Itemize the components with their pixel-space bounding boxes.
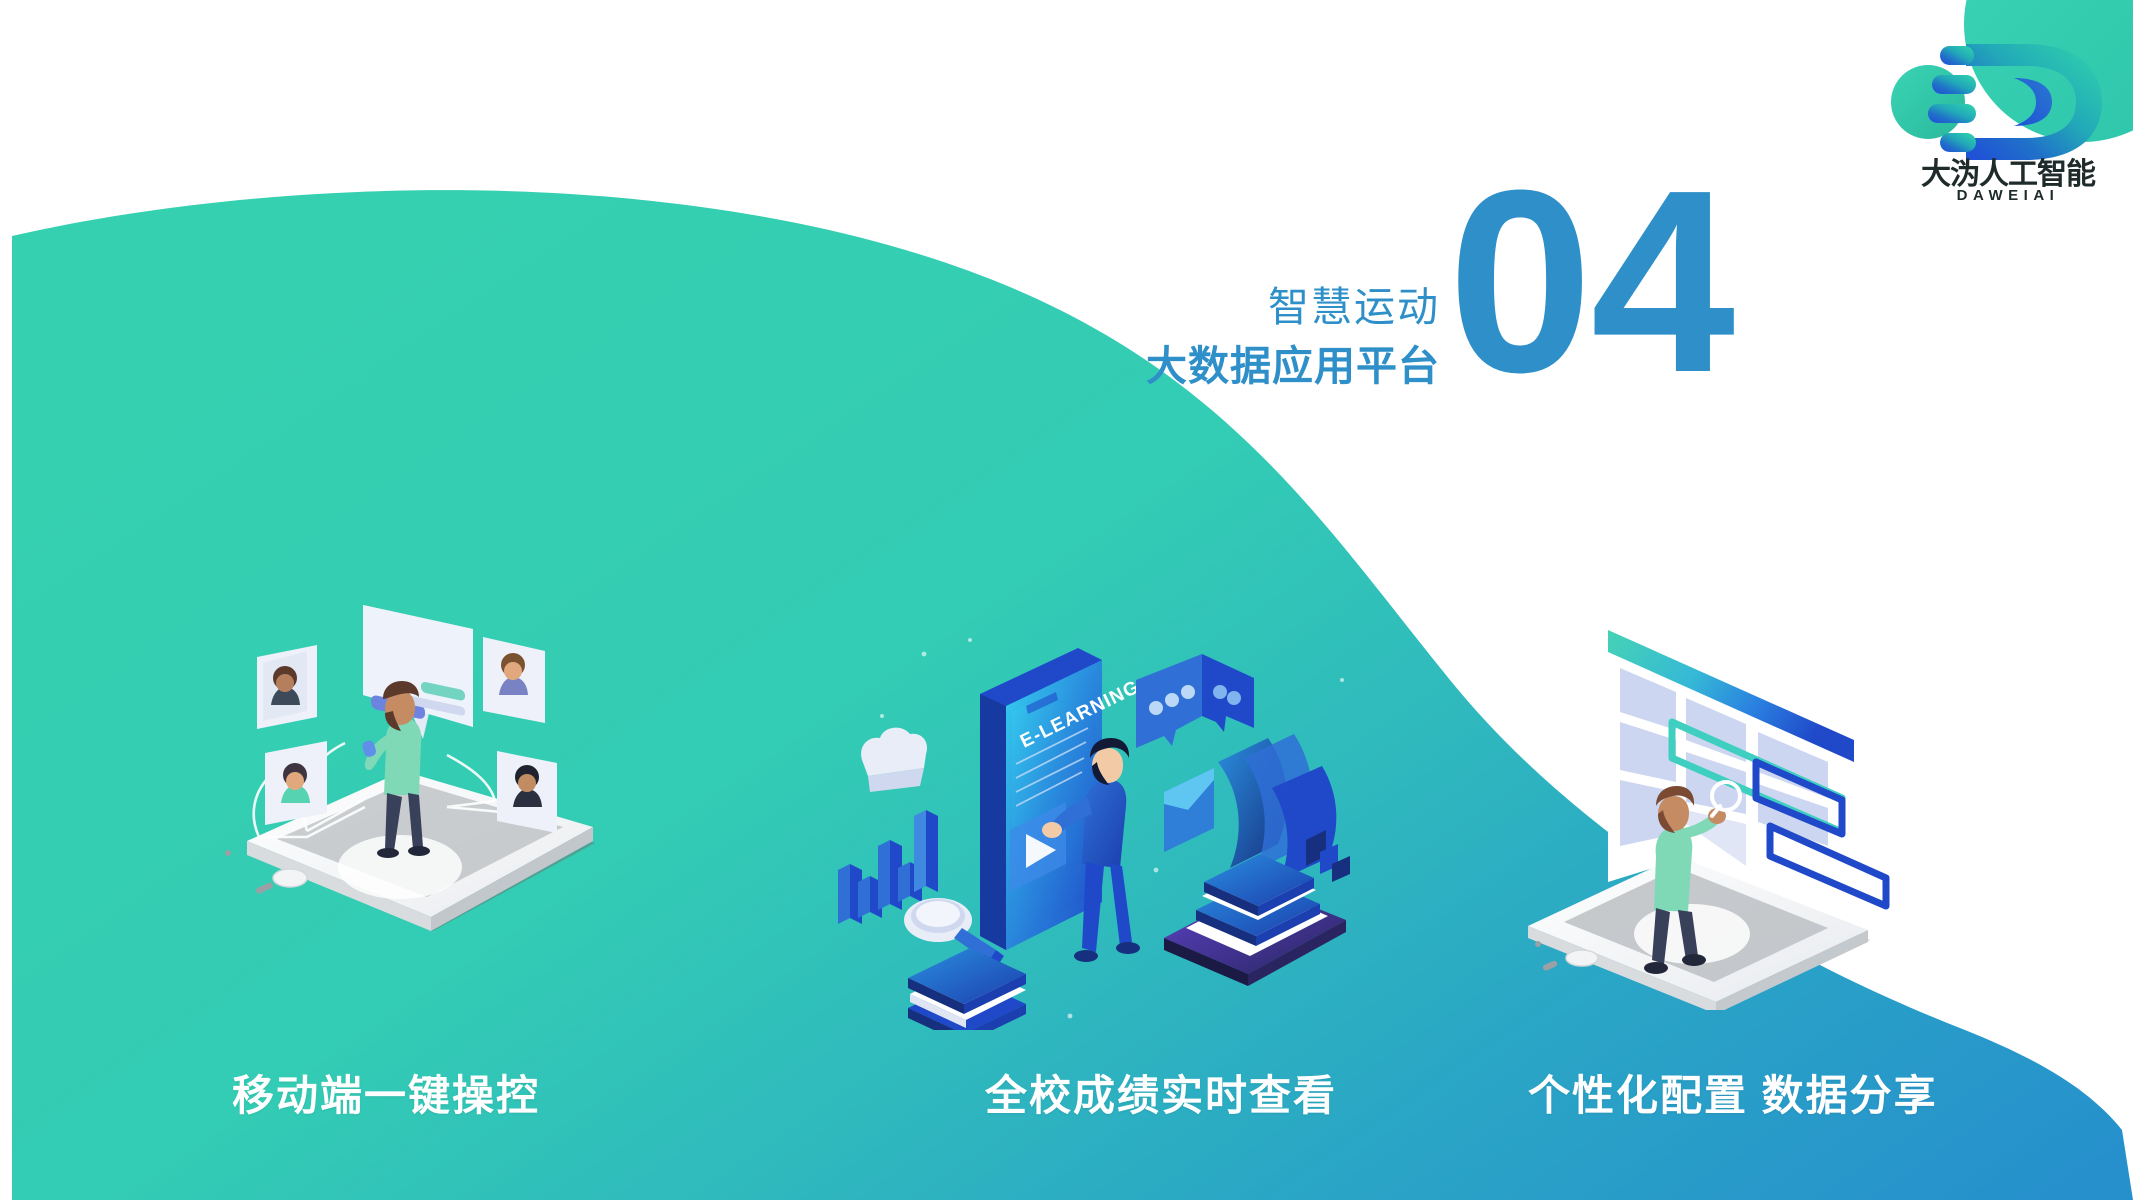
video-window-4 — [497, 751, 557, 833]
book-stack-left — [908, 948, 1026, 1030]
chat-bubble — [363, 605, 473, 739]
feature-caption-mobile-control: 移动端一键操控 — [232, 1062, 540, 1123]
chat-bubbles — [1136, 654, 1254, 748]
data-wave-graphic — [1218, 734, 1350, 882]
browser-window — [1608, 630, 1886, 906]
tablet-book-stack — [1164, 854, 1346, 986]
cloud-icon — [861, 728, 927, 792]
video-window-3 — [265, 741, 327, 825]
illustration-mobile-control — [195, 595, 625, 1005]
laptop-home-button — [1566, 950, 1598, 966]
heading-line-1: 智慧运动 — [1120, 278, 1440, 337]
illustration-laptop-dashboard — [1520, 610, 1920, 1010]
video-window-2 — [483, 637, 545, 723]
section-number: 04 — [1448, 168, 1733, 397]
presentation-slide: 大沩人工智能 DAWEIAI 04 智慧运动 大数据应用平台 — [0, 0, 2133, 1200]
platform-glow — [338, 835, 462, 899]
slide-heading: 智慧运动 大数据应用平台 — [1120, 278, 1440, 397]
heading-line-2: 大数据应用平台 — [1120, 337, 1440, 396]
video-window-1 — [257, 645, 317, 729]
home-button — [273, 869, 307, 887]
illustration-elearning: E-LEARNING — [820, 620, 1380, 1030]
feature-caption-school-scores: 全校成绩实时查看 — [985, 1062, 1337, 1123]
feature-caption-custom-config: 个性化配置 数据分享 — [1528, 1062, 1938, 1123]
logo-company-name-en: DAWEIAI — [1957, 187, 2060, 202]
brand-logo[interactable]: 大沩人工智能 DAWEIAI — [1888, 24, 2128, 202]
envelope-icon — [1164, 768, 1214, 852]
